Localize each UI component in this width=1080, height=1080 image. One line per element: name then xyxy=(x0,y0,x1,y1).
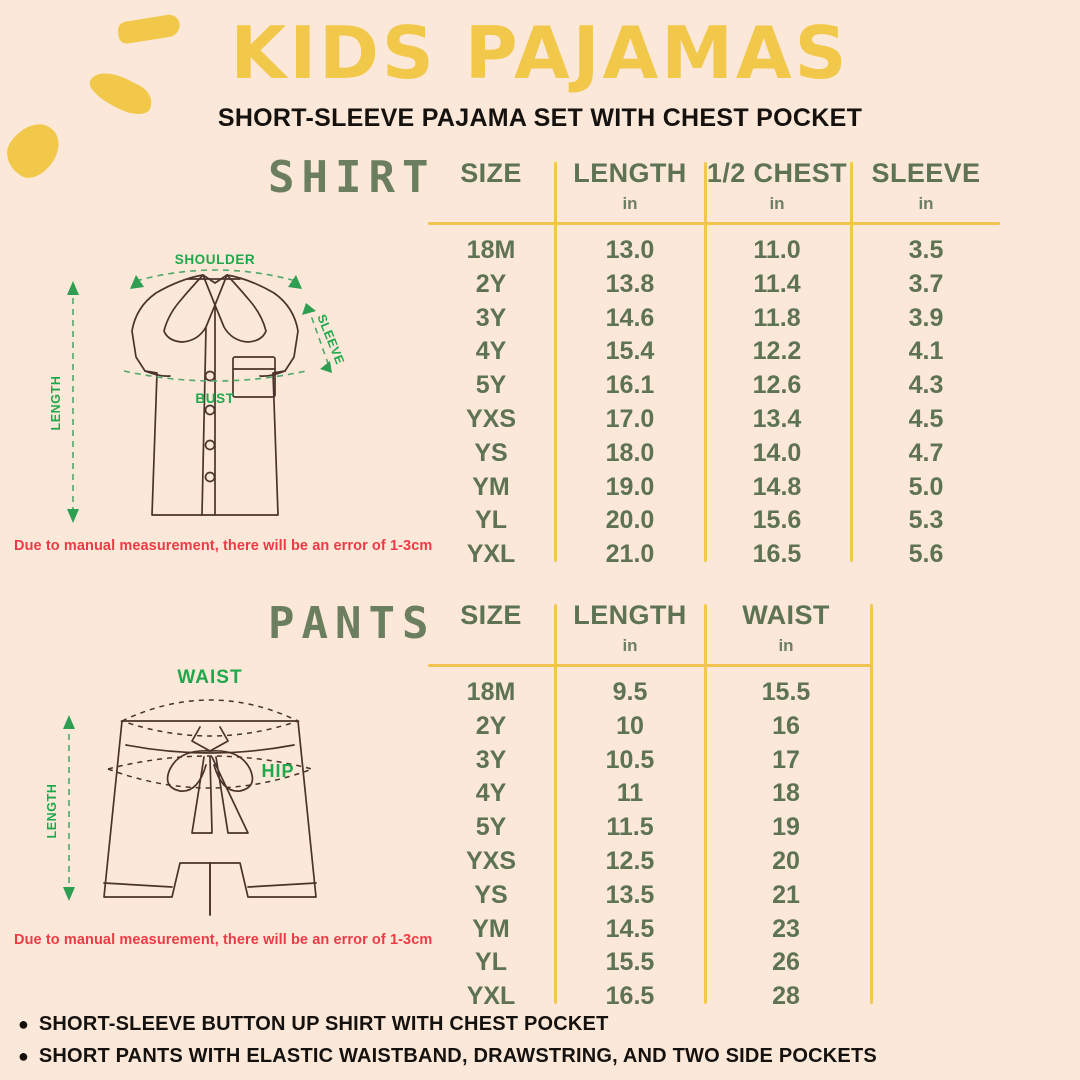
shirt-cell: 13.0 xyxy=(558,236,702,265)
pants-column-header-unit: in xyxy=(706,636,866,656)
pants-cell: YXS xyxy=(428,847,554,876)
shirt-header-rule xyxy=(428,222,1000,225)
shirt-cell: 5.3 xyxy=(852,506,1000,535)
shirt-cell: 16.5 xyxy=(706,540,848,569)
pants-cell: 18M xyxy=(428,678,554,707)
shirt-cell: YS xyxy=(428,439,554,468)
shirt-cell: 12.6 xyxy=(706,371,848,400)
shirt-cell: 4.7 xyxy=(852,439,1000,468)
shirt-cell: 5.0 xyxy=(852,473,1000,502)
pants-measurement-note: Due to manual measurement, there will be… xyxy=(14,932,432,948)
pants-cell: 28 xyxy=(706,982,866,1011)
pants-measurement-diagram: WAIST HIP LENGTH xyxy=(30,665,390,930)
shirt-column-header-unit: in xyxy=(706,194,848,214)
bullet-dot-icon: ● xyxy=(18,1044,29,1068)
shirt-cell: 3.7 xyxy=(852,270,1000,299)
shirt-cell: YXL xyxy=(428,540,554,569)
shirt-cell: 14.6 xyxy=(558,304,702,333)
pants-cell: 16.5 xyxy=(558,982,702,1011)
shirt-cell: 21.0 xyxy=(558,540,702,569)
shirt-column-header-1: LENGTHin xyxy=(558,158,702,214)
shirt-cell: 5.6 xyxy=(852,540,1000,569)
pants-cell: YL xyxy=(428,948,554,977)
pants-cell: 23 xyxy=(706,915,866,944)
pants-column-header-label: LENGTH xyxy=(558,600,702,631)
svg-text:BUST: BUST xyxy=(195,391,234,406)
pants-cell: 19 xyxy=(706,813,866,842)
feature-list: ● SHORT-SLEEVE BUTTON UP SHIRT WITH CHES… xyxy=(18,1012,1058,1076)
svg-text:HIP: HIP xyxy=(261,761,294,781)
page-subtitle: SHORT-SLEEVE PAJAMA SET WITH CHEST POCKE… xyxy=(0,104,1080,133)
pants-cell: 17 xyxy=(706,746,866,775)
pants-cell: 18 xyxy=(706,779,866,808)
shirt-cell: 20.0 xyxy=(558,506,702,535)
pants-cell: 15.5 xyxy=(706,678,866,707)
svg-text:LENGTH: LENGTH xyxy=(49,376,63,431)
shirt-cell: YM xyxy=(428,473,554,502)
shirt-column-header-label: 1/2 CHEST xyxy=(706,158,848,189)
feature-text: SHORT-SLEEVE BUTTON UP SHIRT WITH CHEST … xyxy=(39,1012,609,1036)
pants-cell: 5Y xyxy=(428,813,554,842)
shirt-column-header-label: SLEEVE xyxy=(852,158,1000,189)
shirt-cell: 17.0 xyxy=(558,405,702,434)
pants-cell: 4Y xyxy=(428,779,554,808)
page-title: KIDS PAJAMAS xyxy=(0,12,1080,94)
pants-column-header-label: SIZE xyxy=(428,600,554,631)
shirt-cell: 11.0 xyxy=(706,236,848,265)
shirt-column-header-label: SIZE xyxy=(428,158,554,189)
pants-cell: 13.5 xyxy=(558,881,702,910)
shirt-cell: 11.4 xyxy=(706,270,848,299)
shirt-cell: YXS xyxy=(428,405,554,434)
shirt-cell: 14.0 xyxy=(706,439,848,468)
pants-cell: 12.5 xyxy=(558,847,702,876)
shirt-column-header-unit: in xyxy=(558,194,702,214)
shirt-cell: 3.5 xyxy=(852,236,1000,265)
shirt-column-header-3: SLEEVEin xyxy=(852,158,1000,214)
shirt-cell: 4Y xyxy=(428,337,554,366)
shirt-cell: 3Y xyxy=(428,304,554,333)
shirt-column-header-0: SIZE xyxy=(428,158,554,189)
shirt-column-header-label: LENGTH xyxy=(558,158,702,189)
pants-cell: 9.5 xyxy=(558,678,702,707)
shirt-cell: 11.8 xyxy=(706,304,848,333)
shirt-cell: YL xyxy=(428,506,554,535)
shirt-cell: 18.0 xyxy=(558,439,702,468)
size-chart-page: KIDS PAJAMAS SHORT-SLEEVE PAJAMA SET WIT… xyxy=(0,0,1080,1080)
shirt-measurement-note: Due to manual measurement, there will be… xyxy=(14,538,432,554)
pants-header-rule xyxy=(428,664,873,667)
shirt-cell: 3.9 xyxy=(852,304,1000,333)
section-label-pants: PANTS xyxy=(268,598,435,649)
shirt-cell: 5Y xyxy=(428,371,554,400)
pants-column-header-label: WAIST xyxy=(706,600,866,631)
pants-cell: 14.5 xyxy=(558,915,702,944)
pants-cell: 15.5 xyxy=(558,948,702,977)
shirt-cell: 4.1 xyxy=(852,337,1000,366)
pants-cell: YS xyxy=(428,881,554,910)
shirt-cell: 16.1 xyxy=(558,371,702,400)
pants-cell: YXL xyxy=(428,982,554,1011)
svg-text:WAIST: WAIST xyxy=(177,667,242,688)
pants-column-header-0: SIZE xyxy=(428,600,554,631)
pants-cell: 10 xyxy=(558,712,702,741)
pants-cell: YM xyxy=(428,915,554,944)
pants-cell: 11.5 xyxy=(558,813,702,842)
pants-column-header-1: LENGTHin xyxy=(558,600,702,656)
shirt-cell: 13.8 xyxy=(558,270,702,299)
shirt-cell: 18M xyxy=(428,236,554,265)
shirt-size-table: SIZELENGTHin1/2 CHESTinSLEEVEin18M13.011… xyxy=(428,158,1000,568)
shirt-cell: 4.3 xyxy=(852,371,1000,400)
pants-size-table: SIZELENGTHinWAISTin18M9.515.52Y10163Y10.… xyxy=(428,600,873,1010)
shirt-cell: 12.2 xyxy=(706,337,848,366)
pants-cell: 21 xyxy=(706,881,866,910)
shirt-column-header-unit: in xyxy=(852,194,1000,214)
pants-cell: 11 xyxy=(558,779,702,808)
feature-text: SHORT PANTS WITH ELASTIC WAISTBAND, DRAW… xyxy=(39,1044,877,1068)
bullet-dot-icon: ● xyxy=(18,1012,29,1036)
svg-text:SHOULDER: SHOULDER xyxy=(175,252,256,267)
shirt-cell: 15.4 xyxy=(558,337,702,366)
pants-cell: 20 xyxy=(706,847,866,876)
pants-cell: 10.5 xyxy=(558,746,702,775)
shirt-cell: 15.6 xyxy=(706,506,848,535)
pants-cell: 16 xyxy=(706,712,866,741)
svg-text:LENGTH: LENGTH xyxy=(45,784,59,839)
pants-cell: 2Y xyxy=(428,712,554,741)
pants-column-header-2: WAISTin xyxy=(706,600,866,656)
shirt-cell: 14.8 xyxy=(706,473,848,502)
pants-cell: 26 xyxy=(706,948,866,977)
section-label-shirt: SHIRT xyxy=(268,152,435,203)
shirt-measurement-diagram: SHOULDER BUST SLEEVE LENGTH xyxy=(40,245,390,535)
shirt-cell: 2Y xyxy=(428,270,554,299)
shirt-column-header-2: 1/2 CHESTin xyxy=(706,158,848,214)
pants-column-header-unit: in xyxy=(558,636,702,656)
shirt-cell: 13.4 xyxy=(706,405,848,434)
list-item: ● SHORT PANTS WITH ELASTIC WAISTBAND, DR… xyxy=(18,1044,1058,1068)
shirt-cell: 4.5 xyxy=(852,405,1000,434)
shirt-cell: 19.0 xyxy=(558,473,702,502)
list-item: ● SHORT-SLEEVE BUTTON UP SHIRT WITH CHES… xyxy=(18,1012,1058,1036)
pants-cell: 3Y xyxy=(428,746,554,775)
